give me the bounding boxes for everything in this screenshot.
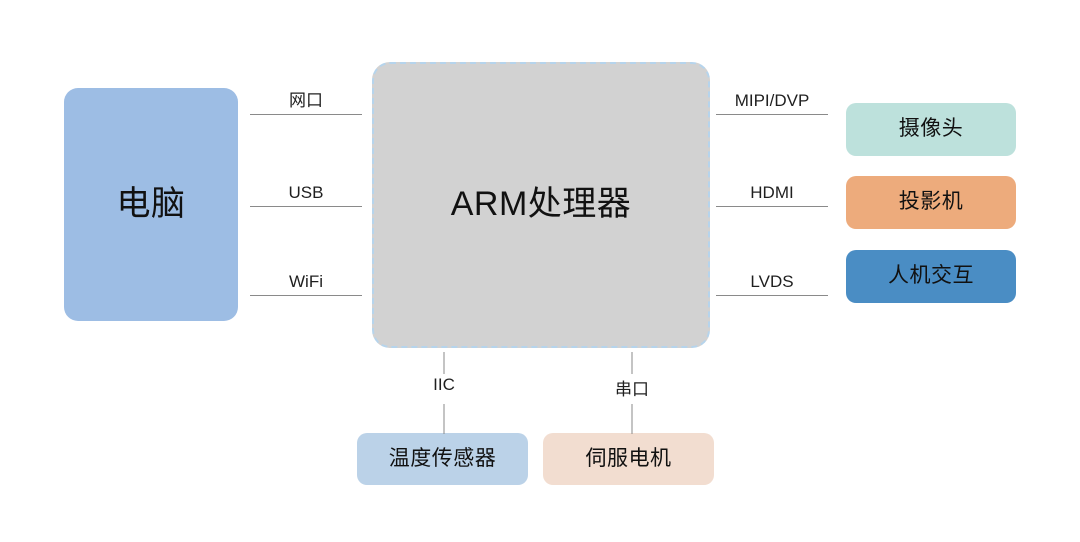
connector-lvds-line (716, 295, 828, 296)
connector-serial-port-label: 串口 (587, 375, 677, 400)
connector-hdmi-label: HDMI (716, 183, 828, 203)
node-human-machine-interface[interactable]: 人机交互 (846, 250, 1016, 303)
node-projector[interactable]: 投影机 (846, 176, 1016, 229)
node-computer-label: 电脑 (117, 185, 186, 224)
connector-iic-label: IIC (399, 375, 489, 395)
connector-serial-port: 串口 (587, 352, 677, 434)
node-camera-label: 摄像头 (899, 117, 964, 141)
connector-hdmi-line (716, 206, 828, 207)
connector-iic-line-bottom (444, 404, 445, 434)
connector-serial-port-line-bottom (632, 404, 633, 434)
connector-usb-label: USB (250, 183, 362, 203)
connector-serial-port-line-top (632, 352, 633, 374)
connector-iic-line-top (444, 352, 445, 374)
connector-mipi-dvp: MIPI/DVP (716, 75, 828, 115)
connector-usb: USB (250, 167, 362, 207)
connector-mipi-dvp-label: MIPI/DVP (716, 91, 828, 111)
connector-wifi-label: WiFi (250, 272, 362, 292)
connector-lvds-label: LVDS (716, 272, 828, 292)
node-projector-label: 投影机 (899, 190, 964, 214)
connector-lvds: LVDS (716, 256, 828, 296)
node-human-machine-interface-label: 人机交互 (888, 264, 974, 288)
connector-network-port-label: 网口 (250, 86, 362, 111)
connector-network-port-line (250, 114, 362, 115)
connector-usb-line (250, 206, 362, 207)
connector-iic: IIC (399, 352, 489, 434)
node-camera[interactable]: 摄像头 (846, 103, 1016, 156)
connector-wifi: WiFi (250, 256, 362, 296)
node-temperature-sensor-label: 温度传感器 (389, 447, 497, 471)
connector-wifi-line (250, 295, 362, 296)
connector-network-port: 网口 (250, 75, 362, 115)
node-temperature-sensor[interactable]: 温度传感器 (357, 433, 528, 485)
node-computer[interactable]: 电脑 (64, 88, 238, 321)
node-servo-motor[interactable]: 伺服电机 (543, 433, 714, 485)
node-arm-processor-label: ARM处理器 (451, 185, 632, 224)
diagram-canvas: 电脑 ARM处理器 摄像头 投影机 人机交互 温度传感器 伺服电机 网口 USB… (0, 0, 1080, 542)
connector-hdmi: HDMI (716, 167, 828, 207)
node-arm-processor[interactable]: ARM处理器 (372, 62, 710, 348)
connector-mipi-dvp-line (716, 114, 828, 115)
node-servo-motor-label: 伺服电机 (586, 447, 672, 471)
